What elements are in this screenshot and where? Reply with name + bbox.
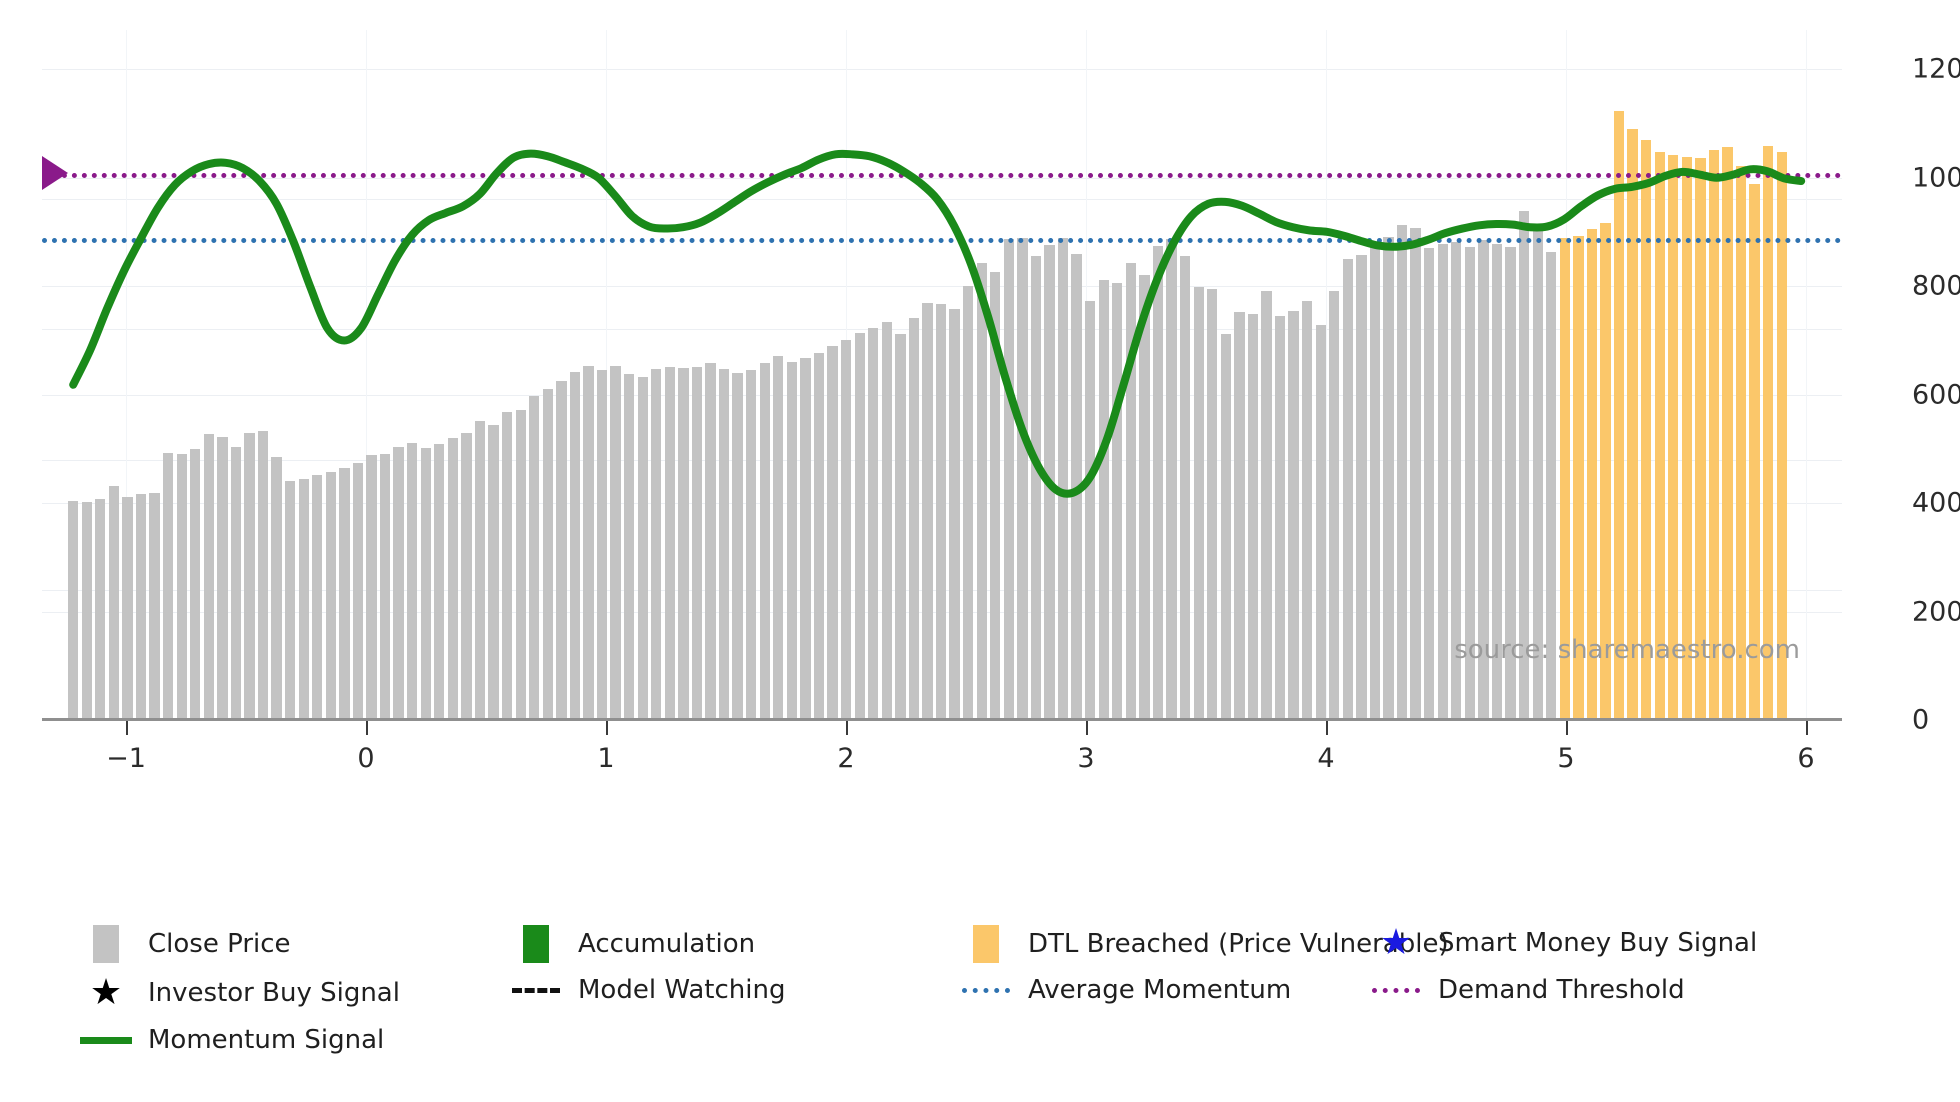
x-axis-tick-mark [1806,721,1808,735]
legend-item[interactable]: Momentum Signal [80,1025,384,1055]
legend-label: Model Watching [578,975,785,1005]
chart-legend: Close PriceAccumulationDTL Breached (Pri… [80,925,1940,943]
star-icon: ★ [1380,925,1412,961]
chart-root: 00.20.40.60.81 020040060080010001200 sou… [0,0,1960,1102]
legend-item[interactable]: Model Watching [510,975,785,1005]
y-axis-right-tick-label: 400 [1912,488,1960,519]
y-axis-right-tick-label: 1200 [1912,54,1960,85]
y-axis-right-tick-label: 0 [1912,705,1929,736]
dotted-line-icon [962,988,1010,993]
solid-line-icon [80,1037,132,1044]
x-axis-tick-label: 2 [837,743,854,774]
legend-item[interactable]: Close Price [80,925,291,963]
x-axis-tick-label: 3 [1077,743,1094,774]
legend-label: Demand Threshold [1438,975,1685,1005]
y-axis-right-tick-label: 800 [1912,271,1960,302]
x-axis-tick-mark [606,721,608,735]
legend-item[interactable]: ★Investor Buy Signal [80,975,400,1011]
dashed-line-icon [512,988,560,993]
x-axis-tick-mark [1326,721,1328,735]
dotted-line-icon [1372,988,1420,993]
legend-item[interactable]: Demand Threshold [1370,975,1685,1005]
color-swatch-icon [93,925,119,963]
legend-label: Smart Money Buy Signal [1438,928,1757,958]
legend-item[interactable]: Accumulation [510,925,755,963]
color-swatch-icon [523,925,549,963]
x-axis-tick-label: 5 [1557,743,1574,774]
legend-label: Accumulation [578,929,755,959]
x-axis-tick-mark [366,721,368,735]
x-axis-tick-label: −1 [106,743,146,774]
plot-canvas [42,30,1842,720]
x-axis-tick-label: 1 [597,743,614,774]
legend-label: Momentum Signal [148,1025,384,1055]
momentum-signal-curve [42,30,1842,720]
x-axis-tick-mark [1086,721,1088,735]
legend-label: Close Price [148,929,291,959]
color-swatch-icon [973,925,999,963]
legend-item[interactable]: Average Momentum [960,975,1291,1005]
legend-label: Average Momentum [1028,975,1291,1005]
x-axis-tick-label: 6 [1797,743,1814,774]
y-axis-right-tick-label: 200 [1912,596,1960,627]
x-axis-line [42,718,1842,721]
legend-label: Investor Buy Signal [148,978,400,1008]
x-axis-tick-mark [126,721,128,735]
y-axis-right-tick-label: 1000 [1912,162,1960,193]
x-axis-tick-mark [1566,721,1568,735]
star-icon: ★ [90,975,122,1011]
y-axis-right-tick-label: 600 [1912,379,1960,410]
plot-area: 00.20.40.60.81 020040060080010001200 sou… [42,30,1842,720]
legend-item[interactable]: ★Smart Money Buy Signal [1370,925,1757,961]
source-annotation: source: sharemaestro.com [1454,635,1800,665]
x-axis-tick-mark [846,721,848,735]
x-axis-tick-label: 4 [1317,743,1334,774]
x-axis-tick-label: 0 [357,743,374,774]
